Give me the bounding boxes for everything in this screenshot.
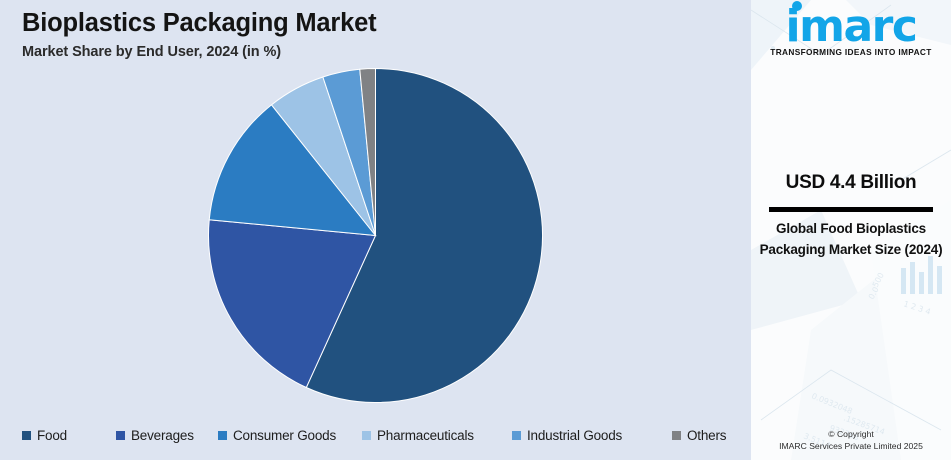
legend-swatch-icon <box>22 431 31 440</box>
legend-item[interactable]: Beverages <box>116 428 194 443</box>
pie-chart-svg <box>208 68 543 403</box>
chart-area: Bioplastics Packaging Market Market Shar… <box>0 0 751 460</box>
legend-item[interactable]: Others <box>672 428 726 443</box>
imarc-logo: imarc TRANSFORMING IDEAS INTO IMPACT <box>751 4 951 66</box>
legend-label: Beverages <box>131 428 194 443</box>
legend-item[interactable]: Food <box>22 428 67 443</box>
legend-item[interactable]: Pharmaceuticals <box>362 428 474 443</box>
copyright-notice: © Copyright IMARC Services Private Limit… <box>751 428 951 452</box>
page-title: Bioplastics Packaging Market <box>22 9 376 38</box>
legend-swatch-icon <box>116 431 125 440</box>
stat-value: USD 4.4 Billion <box>751 172 951 194</box>
copyright-line-2: IMARC Services Private Limited 2025 <box>751 440 951 452</box>
legend-swatch-icon <box>362 431 371 440</box>
chart-page: Bioplastics Packaging Market Market Shar… <box>0 0 951 460</box>
pie-chart <box>208 68 543 403</box>
stat-description: Global Food Bioplastics Packaging Market… <box>759 218 943 260</box>
page-subtitle: Market Share by End User, 2024 (in %) <box>22 44 281 60</box>
pie-slices <box>208 69 542 403</box>
copyright-line-1: © Copyright <box>751 428 951 440</box>
legend-label: Consumer Goods <box>233 428 336 443</box>
imarc-wordmark-text: imarc <box>786 1 917 52</box>
legend-item[interactable]: Consumer Goods <box>218 428 336 443</box>
logo-dot-icon <box>792 1 802 11</box>
legend-label: Industrial Goods <box>527 428 622 443</box>
legend-label: Food <box>37 428 67 443</box>
legend-label: Others <box>687 428 726 443</box>
chart-legend: FoodBeveragesConsumer GoodsPharmaceutica… <box>22 424 737 446</box>
legend-swatch-icon <box>218 431 227 440</box>
legend-label: Pharmaceuticals <box>377 428 474 443</box>
legend-swatch-icon <box>672 431 681 440</box>
imarc-wordmark: imarc <box>786 4 917 50</box>
legend-item[interactable]: Industrial Goods <box>512 428 622 443</box>
brand-panel: 1 2 3 4 0.0 500 0.0932048 3.5114 932768 … <box>751 0 951 460</box>
legend-swatch-icon <box>512 431 521 440</box>
stat-divider <box>769 207 933 212</box>
